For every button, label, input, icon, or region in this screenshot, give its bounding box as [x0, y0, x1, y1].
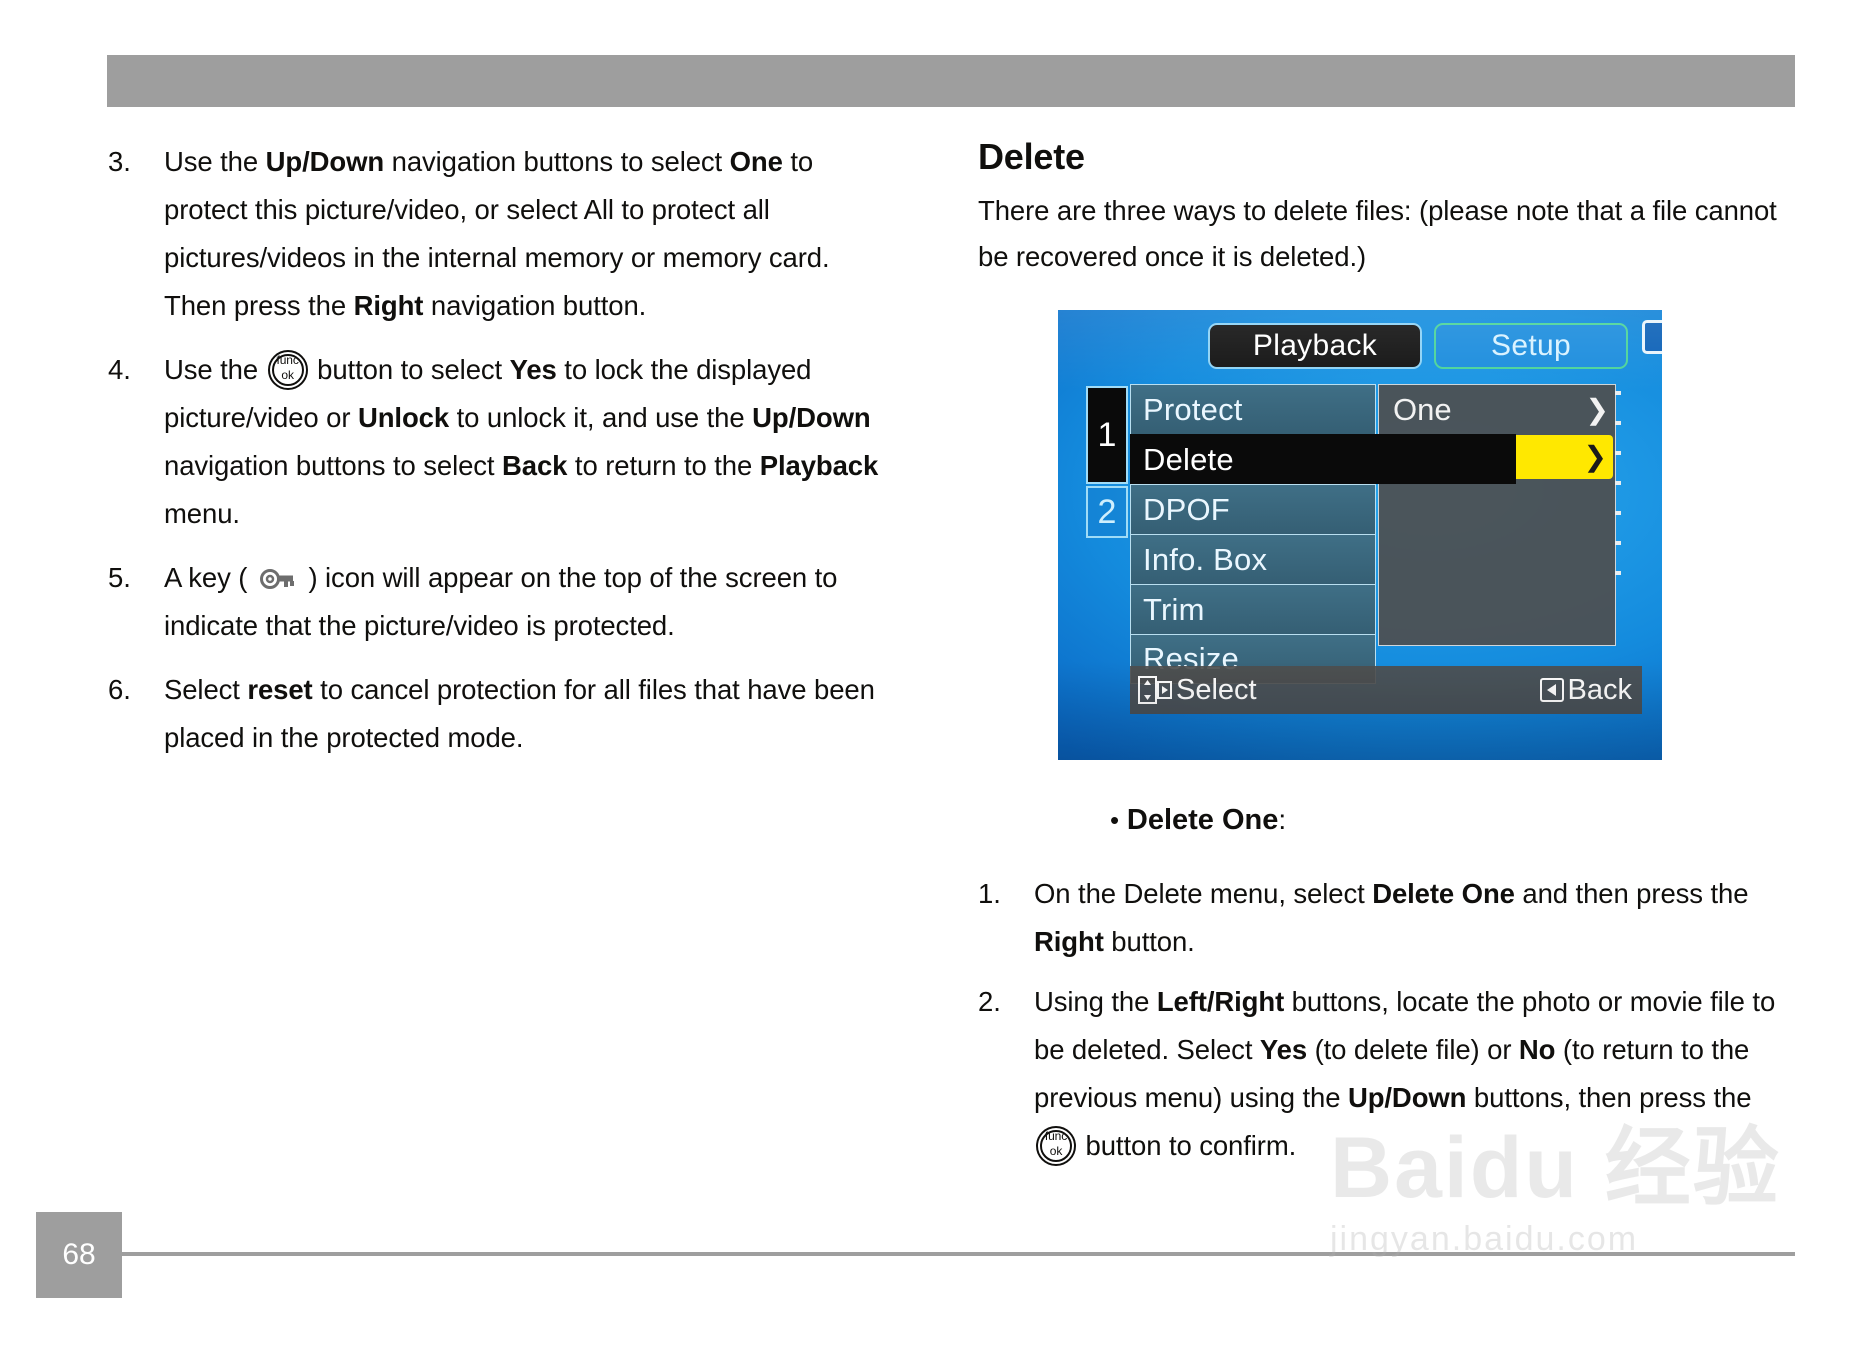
emphasis-text: reset [247, 674, 312, 705]
menu-page-index-1: 1 [1086, 386, 1128, 484]
delete-one-steps-wrap: 1.On the Delete menu, select Delete One … [978, 870, 1778, 1182]
func-ok-button-icon: funcok [1036, 1126, 1076, 1166]
back-button-icon [1540, 678, 1564, 702]
key-icon [259, 559, 297, 585]
list-item: 4.Use the funcok button to select Yes to… [108, 346, 898, 538]
body-text: On the Delete menu, select [1034, 878, 1372, 909]
body-text: Use the [164, 146, 266, 177]
lcd-menu-item-label: Delete [1143, 442, 1234, 478]
emphasis-text: Up/Down [266, 146, 384, 177]
delete-one-colon: : [1278, 804, 1286, 835]
step-number: 6. [108, 666, 152, 714]
lcd-menu-item-label: Protect [1143, 392, 1243, 428]
step-text: Select reset to cancel protection for al… [164, 674, 875, 753]
submenu-item-one-label: One [1393, 392, 1452, 428]
chevron-right-icon: ❯ [1584, 435, 1607, 479]
body-text: button to confirm. [1078, 1130, 1296, 1161]
delete-intro-paragraph: There are three ways to delete files: (p… [978, 188, 1778, 280]
step-text: Using the Left/Right buttons, locate the… [1034, 986, 1775, 1161]
body-text: buttons, then press the [1466, 1082, 1751, 1113]
body-text: navigation button. [423, 290, 646, 321]
lcd-screen: Playback Setup 1 2 ProtectDeleteDPOFInfo… [1058, 310, 1662, 760]
body-text: button. [1104, 926, 1195, 957]
page-header-bar [107, 55, 1795, 107]
emphasis-text: No [1519, 1034, 1555, 1065]
emphasis-text: Yes [510, 354, 557, 385]
body-text: A key ( [164, 562, 255, 593]
battery-body [1642, 320, 1662, 354]
lcd-menu-item-protect[interactable]: Protect [1130, 384, 1376, 434]
protect-steps-list: 3.Use the Up/Down navigation buttons to … [108, 138, 898, 762]
left-text-column: 3.Use the Up/Down navigation buttons to … [108, 138, 898, 778]
body-text: Using the [1034, 986, 1157, 1017]
emphasis-text: Up/Down [1348, 1082, 1466, 1113]
hint-back-label: Back [1568, 674, 1632, 707]
emphasis-text: Right [354, 290, 424, 321]
body-text: (to delete file) or [1307, 1034, 1519, 1065]
list-item: 2.Using the Left/Right buttons, locate t… [978, 978, 1778, 1170]
menu-page-index-2: 2 [1086, 486, 1128, 538]
emphasis-text: Delete One [1372, 878, 1515, 909]
body-text: to unlock it, and use the [449, 402, 752, 433]
step-text: Use the Up/Down navigation buttons to se… [164, 146, 830, 321]
step-number: 5. [108, 554, 152, 602]
lcd-menu-item-label: Info. Box [1143, 542, 1267, 578]
body-text: and then press the [1515, 878, 1749, 909]
delete-one-label: Delete One [1127, 804, 1279, 836]
step-text: On the Delete menu, select Delete One an… [1034, 878, 1748, 957]
body-text: to return to the [567, 450, 759, 481]
emphasis-text: Unlock [358, 402, 449, 433]
list-item: 5.A key ( ) icon will appear on the top … [108, 554, 898, 650]
emphasis-text: Yes [1260, 1034, 1307, 1065]
battery-icon [1642, 320, 1662, 354]
step-text: Use the funcok button to select Yes to l… [164, 354, 878, 529]
func-ok-button-icon: funcok [268, 350, 308, 390]
submenu-scroll-ticks [1615, 391, 1623, 641]
step-number: 2. [978, 978, 1022, 1026]
body-text: button to select [310, 354, 510, 385]
chevron-right-icon: ❯ [1586, 385, 1609, 435]
emphasis-text: Playback [760, 450, 878, 481]
body-text: Use the [164, 354, 266, 385]
lcd-menu-list: ProtectDeleteDPOFInfo. BoxTrimResize [1130, 384, 1376, 684]
tab-playback[interactable]: Playback [1208, 323, 1422, 369]
page-number-badge: 68 [36, 1212, 122, 1298]
hint-select-label: Select [1176, 674, 1257, 707]
lcd-menu-item-label: DPOF [1143, 492, 1230, 528]
emphasis-text: Back [502, 450, 567, 481]
emphasis-text: One [730, 146, 783, 177]
delete-one-bullet: • Delete One: [1058, 800, 1798, 840]
emphasis-text: Right [1034, 926, 1104, 957]
body-text: navigation buttons to select [164, 450, 502, 481]
delete-one-bullet-row: • Delete One: [1058, 800, 1798, 840]
delete-one-steps-list: 1.On the Delete menu, select Delete One … [978, 870, 1778, 1170]
step-number: 1. [978, 870, 1022, 918]
list-item: 3.Use the Up/Down navigation buttons to … [108, 138, 898, 330]
body-text: navigation buttons to select [384, 146, 730, 177]
right-text-column: Delete There are three ways to delete fi… [978, 136, 1778, 280]
step-text: A key ( ) icon will appear on the top of… [164, 562, 837, 641]
step-number: 3. [108, 138, 152, 186]
body-text: menu. [164, 498, 240, 529]
lcd-tab-row: Playback Setup [1058, 323, 1662, 371]
nav-pad-icon [1138, 676, 1172, 704]
camera-lcd-screenshot: Playback Setup 1 2 ProtectDeleteDPOFInfo… [1058, 310, 1662, 760]
body-text: Select [164, 674, 247, 705]
lcd-menu-item-label: Trim [1143, 592, 1205, 628]
lcd-menu-item-trim[interactable]: Trim [1130, 584, 1376, 634]
step-number: 4. [108, 346, 152, 394]
list-item: 6.Select reset to cancel protection for … [108, 666, 898, 762]
submenu-item-one[interactable]: One ❯ [1379, 385, 1617, 435]
lcd-submenu-panel: One ❯ ❮ All ❯ [1378, 384, 1616, 646]
lcd-menu-item-info-box[interactable]: Info. Box [1130, 534, 1376, 584]
bullet-dot-icon: • [1110, 805, 1119, 835]
footer-rule [107, 1252, 1795, 1256]
emphasis-text: Up/Down [752, 402, 870, 433]
lcd-menu-item-delete[interactable]: Delete [1130, 434, 1516, 484]
lcd-menu-item-dpof[interactable]: DPOF [1130, 484, 1376, 534]
list-item: 1.On the Delete menu, select Delete One … [978, 870, 1778, 966]
lcd-hint-bar: Select Back [1130, 666, 1642, 714]
manual-page: 3.Use the Up/Down navigation buttons to … [0, 0, 1871, 1361]
delete-heading: Delete [978, 136, 1778, 178]
emphasis-text: Left/Right [1157, 986, 1284, 1017]
tab-setup[interactable]: Setup [1434, 323, 1628, 369]
hint-select: Select [1130, 674, 1257, 707]
hint-back: Back [1540, 674, 1642, 707]
